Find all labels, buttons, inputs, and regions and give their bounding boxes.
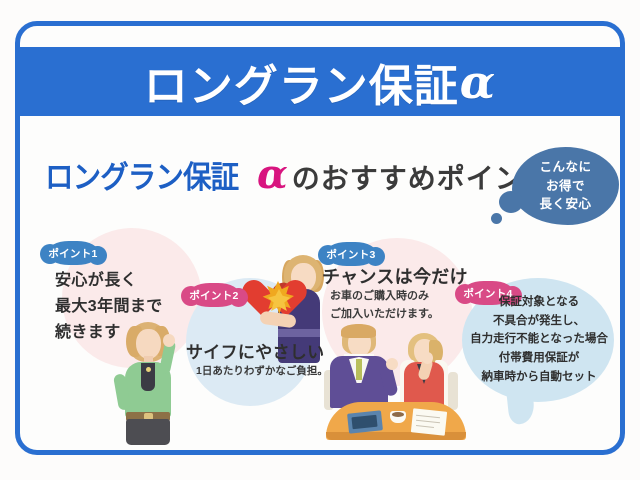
subtitle-alpha: α (257, 159, 288, 191)
point-2-sub-line: 1日あたりわずかなご負担。 (196, 363, 328, 378)
subtitle: ロングラン保証 α のおすすめポイント (45, 152, 553, 197)
page-title-main: ロングラン保証 (144, 50, 459, 114)
point-4-line: 納車時から自動セット (466, 368, 612, 387)
page-title: ロングラン保証α (20, 47, 620, 116)
point-3-sub-line: ご加入いただけます。 (330, 306, 439, 324)
point-1-text: 安心が長く 最大3年間まで 続きます (55, 268, 163, 346)
poster-canvas: ロングラン保証α ロングラン保証 α のおすすめポイント こんなに お得で 長く… (0, 0, 640, 480)
subtitle-brand: ロングラン保証 (45, 152, 238, 197)
point-2-badge: ポイント2 (188, 283, 240, 307)
point-1-line: 続きます (55, 320, 163, 346)
point-1-line: 安心が長く (55, 268, 163, 294)
illustration-two-people-at-table (324, 324, 470, 444)
speech-bubble-text: こんなに お得で 長く安心 (512, 147, 619, 225)
header-banner: ロングラン保証α (20, 47, 620, 116)
speech-bubble: こんなに お得で 長く安心 (512, 147, 619, 225)
point-3-title: チャンスは今だけ (322, 263, 468, 289)
speech-bubble-line: お得で (546, 177, 585, 196)
point-2-title: サイフにやさしい (186, 338, 324, 363)
speech-bubble-line: こんなに (539, 158, 591, 177)
point-4-line: 自力走行不能となった場合 (466, 330, 612, 349)
point-2-subtext: 1日あたりわずかなご負担。 (196, 363, 328, 378)
point-1-line: 最大3年間まで (55, 294, 163, 320)
point-4-text: 保証対象となる 不具合が発生し、 自力走行不能となった場合 付帯費用保証が 納車… (466, 293, 612, 386)
speech-bubble-line: 長く安心 (539, 195, 591, 214)
page-title-alpha: α (460, 55, 496, 109)
point-4-line: 付帯費用保証が (466, 349, 612, 368)
point-4-line: 不具合が発生し、 (466, 312, 612, 331)
point-1-badge: ポイント1 (47, 241, 99, 265)
point-3-sub-line: お車のご購入時のみ (330, 288, 439, 306)
point-4-line: 保証対象となる (466, 293, 612, 312)
point-3-subtext: お車のご購入時のみ ご加入いただけます。 (330, 288, 439, 323)
